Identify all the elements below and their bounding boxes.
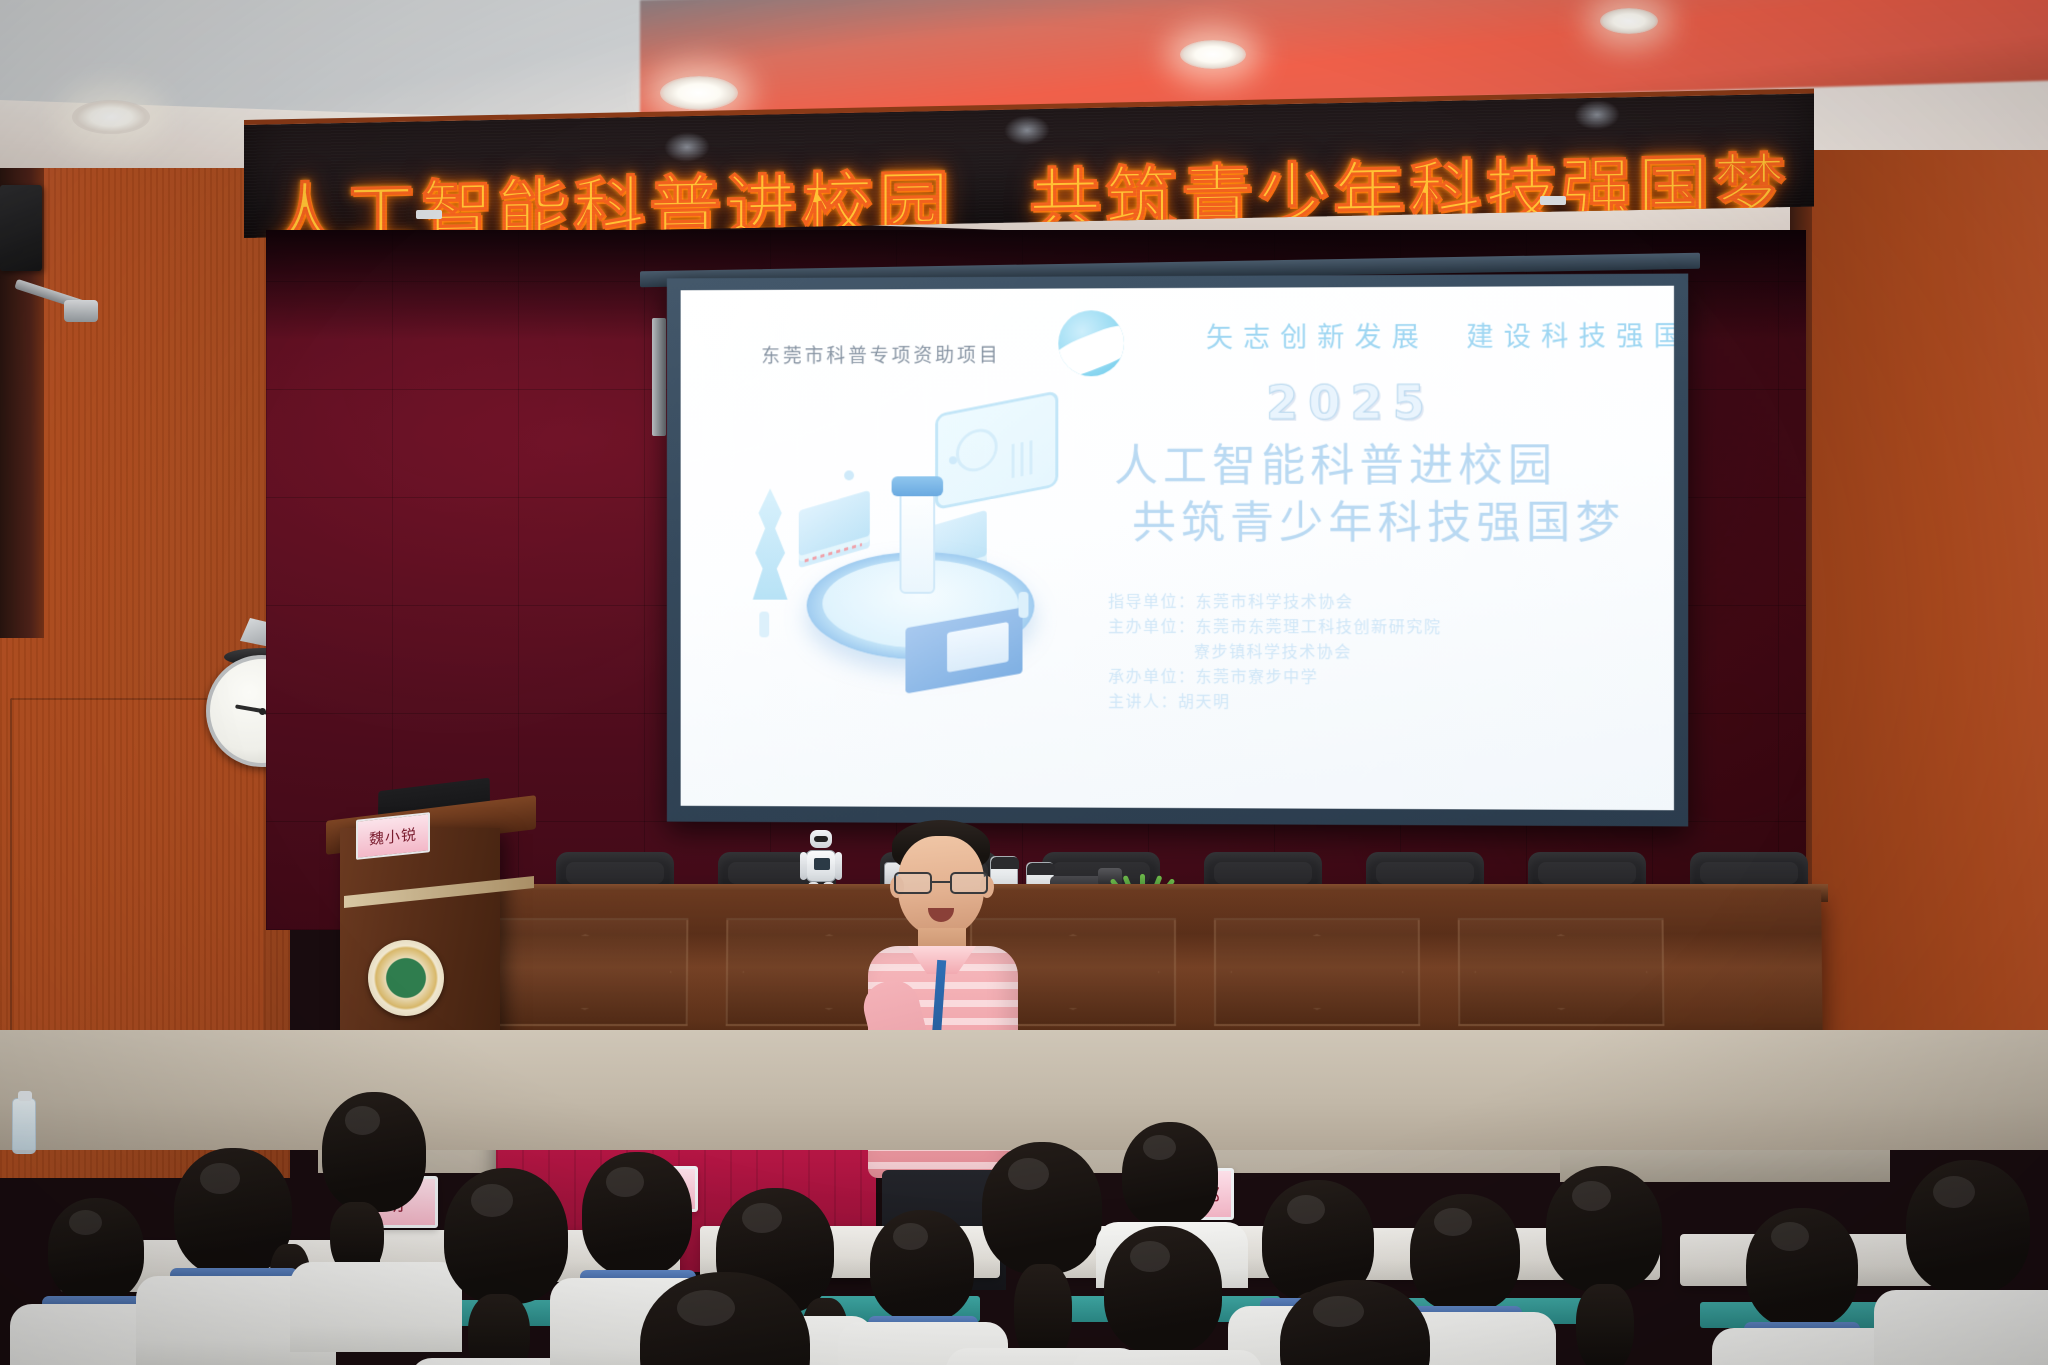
student-head [582, 1152, 692, 1276]
student-head [1746, 1208, 1858, 1328]
clock-center-pin [259, 708, 266, 715]
water-bottle [12, 1098, 36, 1154]
credit-speaker: 主讲人：胡天明 [1108, 690, 1441, 716]
student-torso [290, 1262, 462, 1352]
student-head [982, 1142, 1102, 1274]
screen-mount-clip [416, 210, 442, 219]
student-torso [1874, 1290, 2048, 1365]
credit-organizer-2: 寮步镇科学技术协会 [1108, 640, 1441, 666]
glasses-icon [894, 872, 988, 894]
robot-arm [800, 852, 807, 880]
illustration-person-icon [900, 484, 936, 594]
student-head [444, 1168, 568, 1304]
student-ponytail [1576, 1284, 1634, 1365]
student-head [1122, 1122, 1218, 1228]
student-torso [1712, 1328, 1898, 1365]
slide-tagline: 矢志创新发展 建设科技强国 [1206, 314, 1674, 355]
illustration-dot [844, 470, 854, 480]
table-panel [481, 918, 688, 1026]
credit-organizer: 主办单位：东莞市东莞理工科技创新研究院 [1108, 615, 1441, 640]
right-wood-wall [1800, 150, 2048, 1130]
illustration-server-stack-icon [799, 490, 870, 556]
slide-year: 2025 [1266, 375, 1435, 430]
screen-side-bracket [652, 318, 666, 436]
illustration-dot [949, 456, 957, 464]
banner-glare [1574, 99, 1620, 130]
student-torso [1072, 1350, 1262, 1365]
illustration-vr-headset-icon [892, 476, 943, 496]
illustration-bystander-icon [1019, 592, 1029, 618]
illustration-bystander-icon [759, 612, 769, 638]
school-emblem-icon [368, 940, 444, 1016]
projection-screen: 东莞市科普专项资助项目 矢志创新发展 建设科技强国 2025 人工智能科普进校园… [681, 286, 1674, 811]
ceiling-downlight [72, 100, 150, 134]
student-head [1546, 1166, 1662, 1292]
screen-mount-clip [1540, 196, 1566, 205]
podium-nameplate-text: 魏小锐 [369, 823, 417, 849]
slide-credits-block: 指导单位：东莞市科学技术协会 主办单位：东莞市东莞理工科技创新研究院 寮步镇科学… [1108, 590, 1441, 716]
credit-host: 承办单位：东莞市寮步中学 [1108, 665, 1441, 691]
slide-funding-label: 东莞市科普专项资助项目 [761, 341, 1000, 369]
student-head [1906, 1160, 2030, 1294]
slide-title-line2: 共筑青少年科技强国梦 [1114, 495, 1674, 553]
globe-logo-icon [1058, 310, 1124, 376]
student-head [48, 1198, 144, 1302]
ceiling-downlight [1180, 40, 1246, 69]
robot-head [810, 830, 832, 848]
wall-speaker [0, 185, 42, 271]
security-camera-icon [64, 300, 98, 322]
student-ponytail [468, 1294, 530, 1365]
table-panel [1214, 918, 1420, 1026]
credit-guidance: 指导单位：东莞市科学技术协会 [1108, 590, 1441, 615]
ceiling-downlight [1600, 8, 1658, 34]
student-head [322, 1092, 426, 1212]
student-head [870, 1210, 974, 1322]
table-panel [1458, 918, 1665, 1026]
student-head [1104, 1226, 1222, 1354]
slide-title: 人工智能科普进校园 共筑青少年科技强国梦 [1114, 437, 1674, 552]
illustration-tower-icon [749, 488, 790, 599]
slide-title-line1: 人工智能科普进校园 [1114, 440, 1557, 492]
banner-glare [1004, 115, 1050, 146]
banner-glare [664, 132, 710, 163]
projection-screen-frame: 东莞市科普专项资助项目 矢志创新发展 建设科技强国 2025 人工智能科普进校园… [667, 274, 1688, 827]
audience-back-wall [0, 1030, 2048, 1150]
audience-area: 胡 吴建邦 [0, 1030, 2048, 1365]
podium-nameplate: 魏小锐 [356, 812, 430, 860]
student-head [1410, 1194, 1520, 1312]
auditorium-scene: 人工智能科普进校园 共筑青少年科技强国梦 东莞市科普专项资助项目 矢志创新发展 … [0, 0, 2048, 1365]
robot-torso [806, 850, 836, 882]
ceiling-downlight [660, 76, 738, 110]
illustration-screen-icon [935, 390, 1058, 510]
robot-arm [835, 852, 842, 880]
ai-isometric-illustration [742, 380, 1069, 709]
